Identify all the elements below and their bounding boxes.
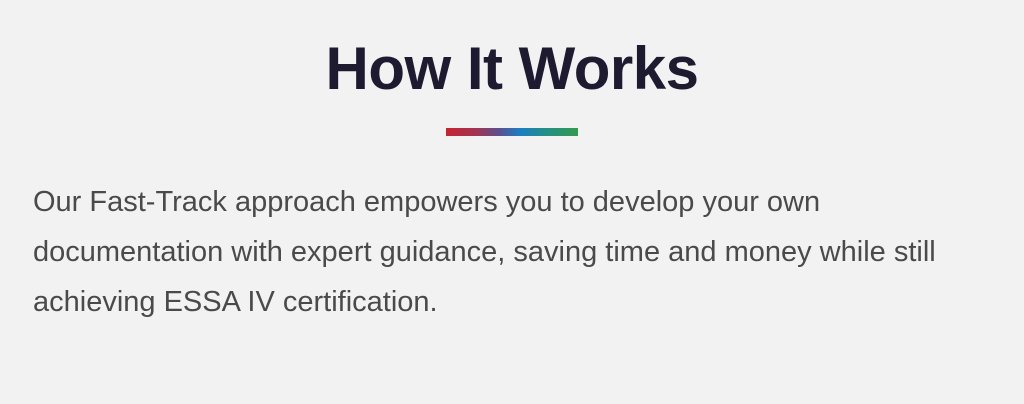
section-description: Our Fast-Track approach empowers you to …: [0, 177, 1024, 327]
divider-wrapper: [0, 123, 1024, 141]
gradient-divider: [446, 128, 578, 136]
how-it-works-section: How It Works Our Fast-Track approach emp…: [0, 0, 1024, 404]
page-title: How It Works: [0, 34, 1024, 103]
heading-block: How It Works: [0, 0, 1024, 103]
